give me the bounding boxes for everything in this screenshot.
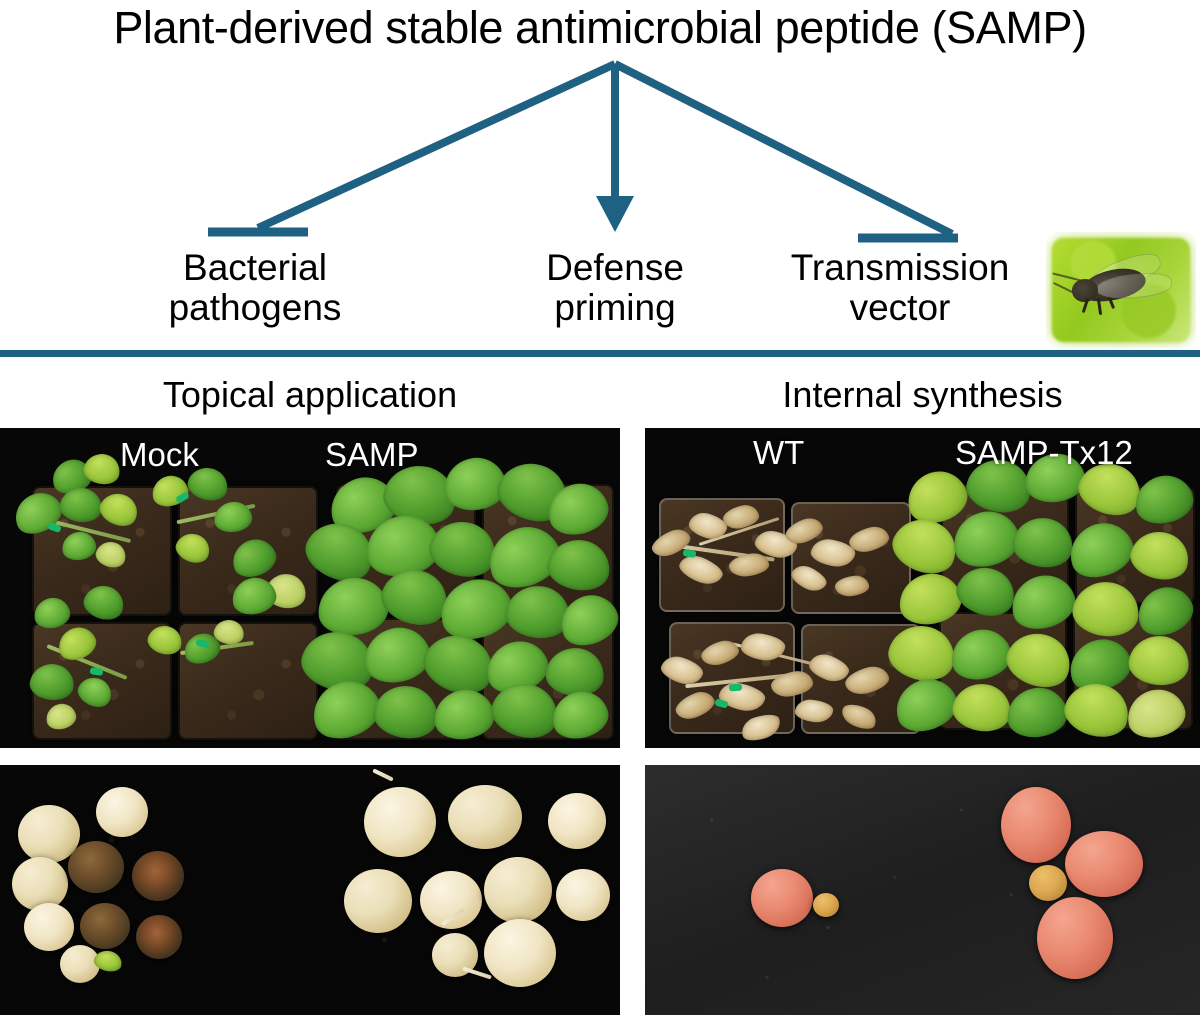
tuber	[484, 919, 556, 987]
tuber	[96, 787, 148, 837]
branch-label-transmission-vector: Transmission vector	[760, 248, 1040, 327]
diseased-tuber	[136, 915, 182, 959]
tuber	[1065, 831, 1143, 897]
tuber	[364, 787, 436, 857]
branch-label-defense-priming: Defense priming	[490, 248, 740, 327]
internal-tubers-photo	[645, 765, 1200, 1015]
section-header-topical-application: Topical application	[0, 374, 620, 416]
plant-clip	[729, 684, 742, 692]
photo-label-samp: SAMP	[325, 436, 419, 474]
topical-plants-photo: Mock SAMP	[0, 428, 620, 748]
internal-plants-photo: WT SAMP-Tx12	[645, 428, 1200, 748]
psyllid-insect-icon	[1046, 232, 1196, 348]
tuber	[24, 903, 74, 951]
tuber	[813, 893, 839, 917]
tuber	[344, 869, 412, 933]
tuber	[1029, 865, 1067, 901]
tuber	[1001, 787, 1071, 863]
tuber	[751, 869, 813, 927]
tuber	[484, 857, 552, 923]
tuber	[448, 785, 522, 849]
photo-label-samp-tx12: SAMP-Tx12	[955, 434, 1133, 472]
diseased-tuber	[132, 851, 184, 901]
tuber	[548, 793, 606, 849]
section-header-internal-synthesis: Internal synthesis	[645, 374, 1200, 416]
graphical-abstract: Plant-derived stable antimicrobial pepti…	[0, 0, 1200, 1015]
diseased-tuber	[68, 841, 124, 893]
section-divider	[0, 350, 1200, 357]
diseased-tuber	[80, 903, 130, 949]
tuber	[1037, 897, 1113, 979]
photo-label-mock: Mock	[120, 436, 199, 474]
tuber	[12, 857, 68, 911]
topical-tubers-photo	[0, 765, 620, 1015]
photo-label-wt: WT	[753, 434, 804, 472]
branch-label-bacterial-pathogens: Bacterial pathogens	[120, 248, 390, 327]
tuber	[556, 869, 610, 921]
pot	[659, 498, 785, 612]
